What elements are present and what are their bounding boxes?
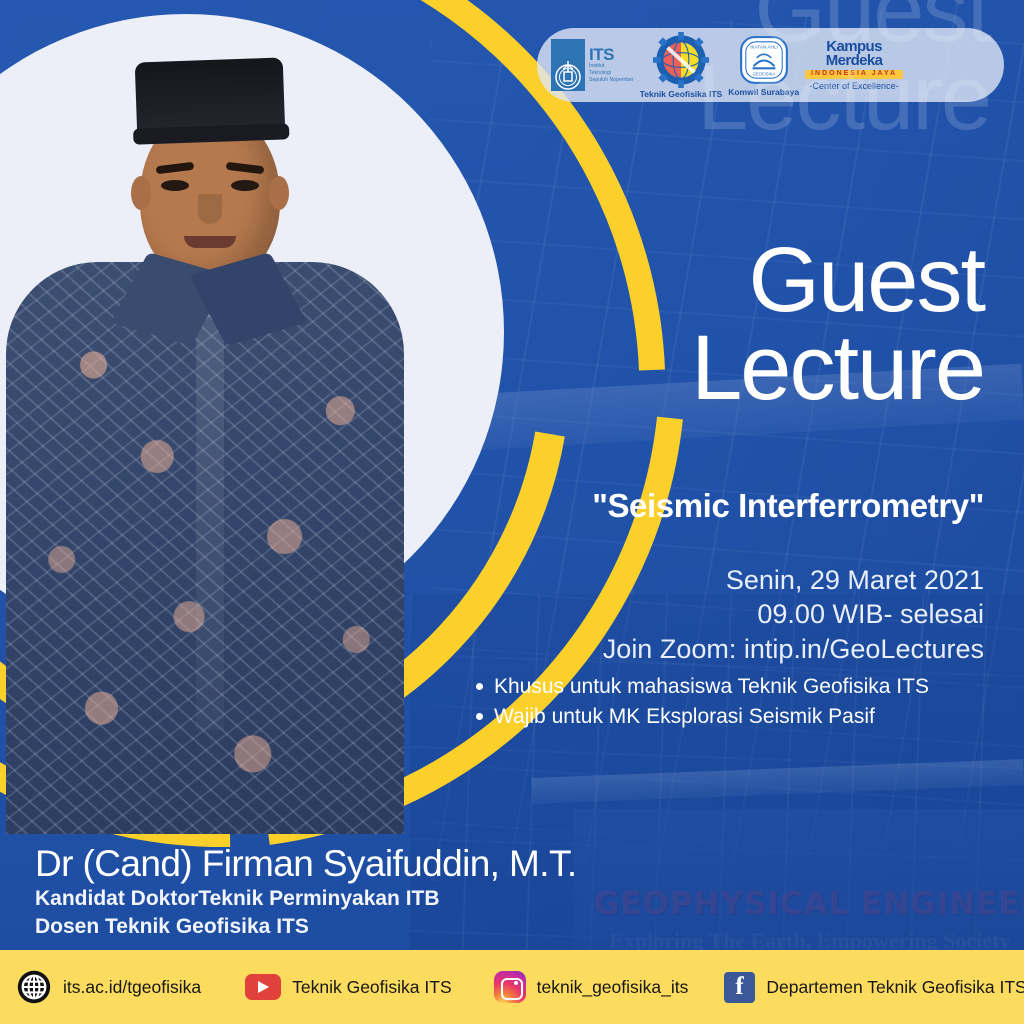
schedule-time: 09.00 WIB- selesai	[430, 597, 984, 631]
list-item: Khusus untuk mahasiswa Teknik Geofisika …	[470, 672, 1002, 702]
footer-label-youtube: Teknik Geofisika ITS	[292, 977, 452, 998]
speaker-name: Dr (Cand) Firman Syaifuddin, M.T.	[35, 843, 577, 885]
speaker-affiliation-1: Kandidat DoktorTeknik Perminyakan ITB	[35, 885, 577, 912]
footer-label-website: its.ac.id/tgeofisika	[63, 977, 201, 998]
footer-item-facebook[interactable]: Departemen Teknik Geofisika ITS	[724, 972, 1024, 1003]
page-title-ghost-line2: Lecture	[697, 54, 990, 142]
right-ear	[269, 176, 289, 210]
mouth	[184, 236, 236, 248]
instagram-icon	[494, 971, 526, 1003]
social-footer-bar: its.ac.id/tgeofisika Teknik Geofisika IT…	[0, 950, 1024, 1024]
left-eye	[161, 180, 189, 191]
globe-icon	[16, 969, 52, 1005]
footer-label-facebook: Departemen Teknik Geofisika ITS	[766, 977, 1024, 998]
right-eye	[231, 180, 259, 191]
footer-item-youtube[interactable]: Teknik Geofisika ITS	[245, 974, 452, 1000]
page-title-line2: Lecture	[691, 324, 984, 412]
guest-lecture-poster: GEOPHYSICAL ENGINEERING Exploring The Ea…	[0, 0, 1024, 1024]
notes-list: Khusus untuk mahasiswa Teknik Geofisika …	[448, 672, 1002, 733]
youtube-icon	[245, 974, 281, 1000]
speaker-credit: Dr (Cand) Firman Syaifuddin, M.T. Kandid…	[35, 843, 577, 940]
content-column: Guest Lecture Guest Lecture "Seismic Int…	[470, 0, 1024, 940]
schedule-date: Senin, 29 Maret 2021	[430, 563, 984, 597]
page-title-ghost: Guest Lecture	[697, 0, 990, 143]
speaker-portrait	[0, 24, 420, 832]
page-title-ghost-line1: Guest	[697, 0, 990, 54]
footer-label-instagram: teknik_geofisika_its	[537, 977, 689, 998]
songkok-cap	[135, 57, 286, 138]
nose	[198, 194, 222, 224]
page-title: Guest Lecture	[691, 236, 984, 413]
lecture-topic: "Seismic Interferrometry"	[430, 487, 984, 525]
footer-item-website[interactable]: its.ac.id/tgeofisika	[16, 969, 201, 1005]
facebook-icon	[724, 972, 755, 1003]
schedule-join-link[interactable]: Join Zoom: intip.in/GeoLectures	[430, 632, 984, 666]
left-ear	[131, 176, 151, 210]
speaker-affiliation-2: Dosen Teknik Geofisika ITS	[35, 913, 577, 940]
shirt-placket	[196, 300, 224, 730]
list-item: Wajib untuk MK Eksplorasi Seismik Pasif	[470, 702, 1002, 732]
footer-item-instagram[interactable]: teknik_geofisika_its	[494, 971, 689, 1003]
page-title-line1: Guest	[691, 236, 984, 324]
schedule-block: Senin, 29 Maret 2021 09.00 WIB- selesai …	[430, 563, 984, 666]
